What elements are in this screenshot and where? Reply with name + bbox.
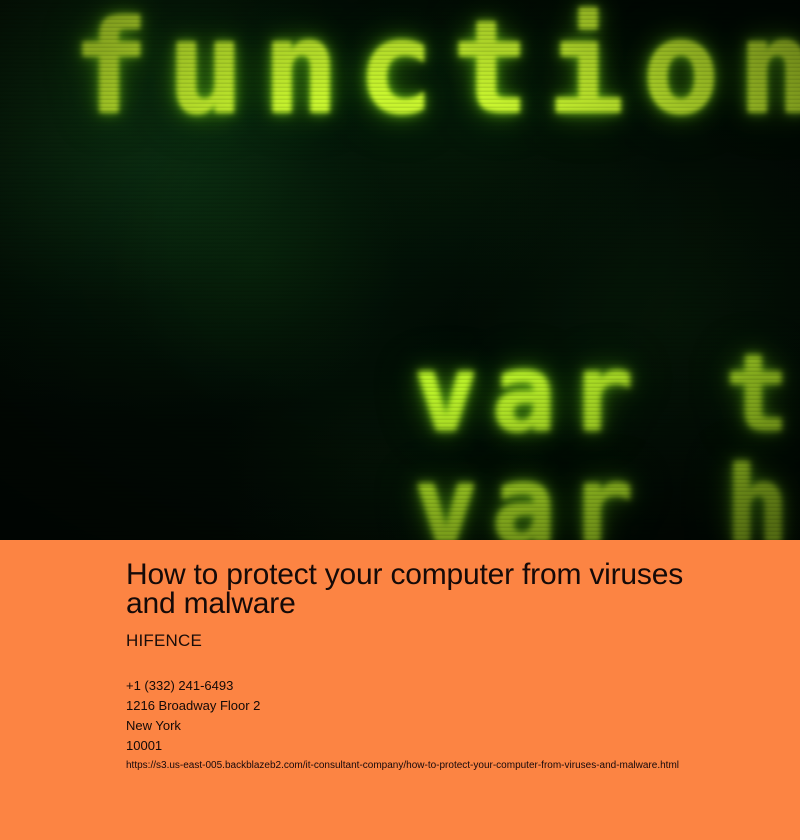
contact-city: New York bbox=[126, 716, 260, 736]
contact-postal-code: 10001 bbox=[126, 736, 260, 756]
code-text-line-3: var h bbox=[414, 444, 800, 540]
brand-name: HIFENCE bbox=[126, 631, 202, 651]
contact-phone: +1 (332) 241-6493 bbox=[126, 676, 260, 696]
source-url-link[interactable]: https://s3.us-east-005.backblazeb2.com/i… bbox=[126, 759, 679, 773]
code-text-line-2: var t bbox=[414, 332, 800, 455]
code-text-line-1: function bbox=[72, 0, 800, 143]
article-preview-card: function var t var h How to protect your… bbox=[0, 0, 800, 840]
contact-street: 1216 Broadway Floor 2 bbox=[126, 696, 260, 716]
contact-details: +1 (332) 241-6493 1216 Broadway Floor 2 … bbox=[126, 676, 260, 756]
info-panel: How to protect your computer from viruse… bbox=[0, 540, 800, 840]
page-title: How to protect your computer from viruse… bbox=[126, 560, 686, 618]
hero-image: function var t var h bbox=[0, 0, 800, 540]
